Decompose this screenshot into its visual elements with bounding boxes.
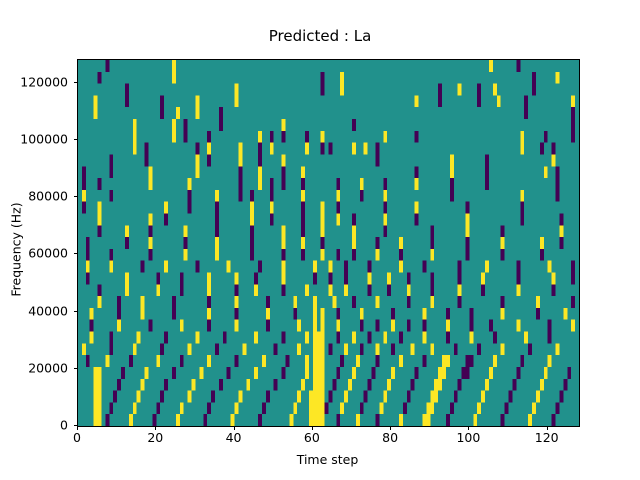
y-tick-label: 60000: [0, 246, 68, 261]
y-tick-mark: [74, 196, 78, 197]
y-tick-label: 40000: [0, 303, 68, 318]
y-tick-label: 0: [0, 418, 68, 433]
x-tick-mark: [312, 426, 313, 430]
x-axis-label: Time step: [77, 452, 578, 467]
y-tick-mark: [74, 311, 78, 312]
y-tick-mark: [74, 253, 78, 254]
page-title: Predicted : La: [0, 27, 640, 45]
y-tick-label: 80000: [0, 189, 68, 204]
x-tick-mark: [390, 426, 391, 430]
x-tick-label: 80: [382, 430, 398, 445]
x-tick-mark: [547, 426, 548, 430]
y-tick-mark: [74, 82, 78, 83]
x-tick-label: 20: [147, 430, 163, 445]
x-tick-label: 0: [73, 430, 81, 445]
x-tick-mark: [155, 426, 156, 430]
matplotlib-figure: Predicted : La Frequency (Hz) Time step …: [0, 0, 640, 480]
x-tick-mark: [234, 426, 235, 430]
x-tick-label: 40: [226, 430, 242, 445]
y-tick-label: 20000: [0, 360, 68, 375]
y-tick-label: 120000: [0, 74, 68, 89]
x-tick-label: 120: [535, 430, 559, 445]
heatmap-plot-area: [77, 59, 580, 427]
y-tick-mark: [74, 139, 78, 140]
y-tick-label: 100000: [0, 132, 68, 147]
x-tick-mark: [77, 426, 78, 430]
x-tick-label: 60: [304, 430, 320, 445]
x-tick-mark: [468, 426, 469, 430]
heatmap-image: [78, 60, 579, 426]
y-tick-mark: [74, 368, 78, 369]
x-tick-label: 100: [456, 430, 480, 445]
